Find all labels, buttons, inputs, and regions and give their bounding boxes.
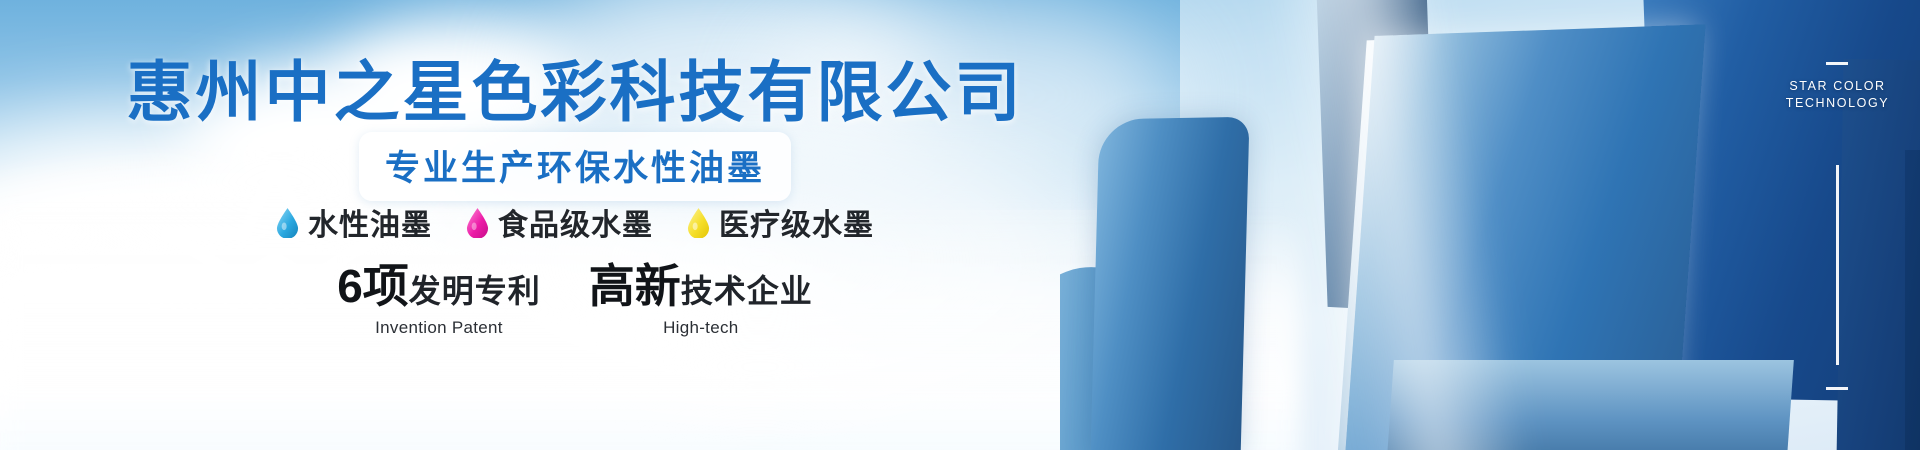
signage-line-1: STAR COLOR	[1770, 78, 1905, 95]
credential-main: 高新技术企业	[589, 263, 813, 309]
building-far-right	[1905, 150, 1920, 450]
credential-strong: 6项	[337, 260, 409, 312]
signage-line-2: TECHNOLOGY	[1770, 95, 1905, 112]
feature-item: 食品级水墨	[466, 200, 653, 244]
credential-rest: 技术企业	[681, 273, 813, 309]
signage-tick-bottom	[1826, 387, 1848, 390]
feature-list: 水性油墨 食品级水墨	[0, 200, 1150, 244]
credential-english: High-tech	[589, 318, 813, 338]
water-drop-icon	[687, 207, 710, 238]
credential-strong: 高新	[589, 260, 681, 312]
signage-tick-top	[1826, 62, 1848, 65]
credential-list: 6项发明专利 Invention Patent 高新技术企业 High-tech	[0, 263, 1150, 338]
credential-item-high-tech: 高新技术企业 High-tech	[589, 263, 813, 338]
credential-main: 6项发明专利	[337, 263, 541, 309]
feature-label: 医疗级水墨	[719, 200, 874, 244]
water-drop-icon	[466, 207, 489, 238]
signage-star-color-technology: STAR COLOR TECHNOLOGY	[1770, 78, 1905, 112]
feature-label: 食品级水墨	[498, 200, 653, 244]
signage-vertical-rule	[1836, 165, 1839, 365]
water-drop-icon	[276, 207, 299, 238]
subtitle-badge-wrap: 专业生产环保水性油墨	[0, 132, 1150, 201]
feature-item: 医疗级水墨	[687, 200, 874, 244]
credential-rest: 发明专利	[409, 273, 541, 309]
subtitle-badge: 专业生产环保水性油墨	[359, 132, 791, 201]
company-title: 惠州中之星色彩科技有限公司	[0, 58, 1150, 127]
feature-item: 水性油墨	[276, 200, 432, 244]
banner-content: 惠州中之星色彩科技有限公司 专业生产环保水性油墨 水性油墨	[0, 0, 1150, 450]
skyline-photo	[1060, 0, 1920, 450]
credential-english: Invention Patent	[337, 318, 541, 338]
credential-item-invention-patent: 6项发明专利 Invention Patent	[337, 263, 541, 338]
company-hero-banner: Star Color STAR COLOR TECHNOLOGY 惠州中之星色彩…	[0, 0, 1920, 450]
feature-label: 水性油墨	[308, 200, 432, 244]
